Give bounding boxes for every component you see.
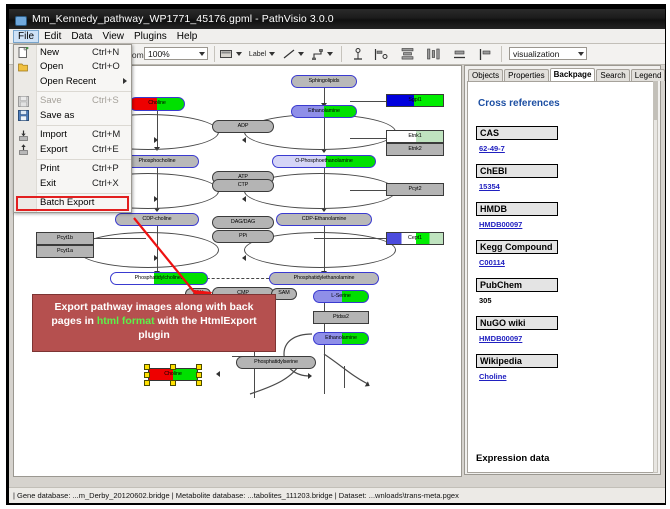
- interaction-icon: [312, 49, 324, 60]
- xref-source-chebi: ChEBI: [476, 164, 558, 178]
- node-label: Phosphocholine: [139, 159, 176, 164]
- tab-properties[interactable]: Properties: [504, 69, 548, 81]
- edge-to-ptdserine: [344, 366, 345, 388]
- menu-item-label: Export: [40, 144, 67, 155]
- line-icon: [283, 49, 295, 59]
- menu-file[interactable]: File: [13, 30, 39, 43]
- xref-source-wikipedia: Wikipedia: [476, 354, 558, 368]
- gene-label: Pcyt1b: [57, 236, 73, 241]
- status-text: | Gene database: ...m_Derby_20120602.bri…: [9, 491, 459, 500]
- xref-value-nugo[interactable]: HMDB00097: [479, 334, 522, 343]
- distribute-vertical-button[interactable]: [397, 47, 417, 61]
- chevron-down-icon: [199, 52, 205, 56]
- node-label: Ethanolamine: [325, 336, 357, 341]
- menu-separator: [36, 193, 131, 194]
- edge-sgpl1: [350, 101, 386, 102]
- node-label: Choline: [164, 372, 182, 377]
- open-folder-icon: [18, 62, 29, 73]
- export-icon: [18, 144, 29, 155]
- submenu-arrow-icon: [123, 78, 127, 84]
- file-menu-dropdown[interactable]: New Ctrl+N Open Ctrl+O Open Recent Save …: [13, 44, 132, 213]
- menu-item-label: New: [40, 47, 59, 58]
- menu-item-label: Print: [40, 163, 60, 174]
- menu-plugins[interactable]: Plugins: [129, 30, 172, 43]
- node-label: SAM: [278, 291, 289, 296]
- menu-item-new[interactable]: New Ctrl+N: [14, 45, 131, 60]
- gene-cept1[interactable]: Cept1: [386, 232, 444, 245]
- gene-sgpl1[interactable]: Sgpl1: [386, 94, 444, 107]
- gene-label: Cept1: [408, 236, 422, 241]
- xref-source-cas: CAS: [476, 126, 558, 140]
- panel-scrollbar[interactable]: [653, 81, 658, 473]
- xref-value-pubchem: 305: [479, 296, 492, 305]
- gene-pcyt2[interactable]: Pcyt2: [386, 183, 444, 196]
- node-label: ADP: [238, 124, 249, 129]
- visualization-value: visualization: [513, 49, 559, 59]
- edge-etnk: [350, 138, 386, 139]
- node-l-serine[interactable]: L-Serine: [313, 290, 369, 303]
- handle-sw[interactable]: [144, 380, 150, 386]
- callout-highlight: html format: [97, 315, 155, 327]
- pathvisio-window: Mm_Kennedy_pathway_WP1771_45176.gpml - P…: [8, 8, 666, 504]
- node-cdp-ethanolamine[interactable]: CDP-Ethanolamine: [276, 213, 372, 226]
- menu-item-accel: Ctrl+P: [92, 163, 119, 174]
- menu-bar: File Edit Data View Plugins Help: [9, 29, 665, 44]
- align-left-button[interactable]: [371, 47, 391, 61]
- xref-source-pubchem: PubChem: [476, 278, 558, 292]
- menu-item-accel: Ctrl+N: [92, 47, 119, 58]
- annotation-callout: Export pathway images along with back pa…: [32, 294, 276, 352]
- menu-separator: [36, 125, 131, 126]
- node-ethanolamine-top[interactable]: Ethanolamine: [291, 105, 357, 118]
- xref-source-kegg: Kegg Compound: [476, 240, 558, 254]
- edge-pcyt2: [350, 190, 386, 191]
- menu-help[interactable]: Help: [172, 30, 203, 43]
- gene-ptdss2[interactable]: Ptdss2: [313, 311, 369, 324]
- handle-w[interactable]: [144, 372, 150, 378]
- menu-item-accel: Ctrl+M: [92, 129, 120, 140]
- handle-s[interactable]: [170, 380, 176, 386]
- stack-left-icon: [479, 49, 492, 60]
- stack-left-button[interactable]: [475, 47, 495, 61]
- node-label: CTP: [238, 183, 248, 188]
- menu-item-label: Save as: [40, 110, 74, 121]
- node-phosphatidylserine[interactable]: Phosphatidylserine: [236, 356, 316, 369]
- xref-value-kegg[interactable]: C00114: [479, 258, 505, 267]
- node-label: Ethanolamine: [308, 109, 340, 114]
- save-disk-icon: [18, 96, 29, 107]
- backpage-content: Cross references CAS 62-49-7 ChEBI 15354…: [467, 81, 655, 473]
- node-label: O-Phosphoethanolamine: [295, 159, 353, 164]
- window-title: Mm_Kennedy_pathway_WP1771_45176.gpml - P…: [32, 13, 334, 25]
- scrollbar-thumb[interactable]: [654, 82, 657, 120]
- menu-edit[interactable]: Edit: [39, 30, 66, 43]
- callout-text-part2: with the HtmlExport plugin: [138, 315, 256, 341]
- node-label: Phosphatidylserine: [254, 360, 298, 365]
- stack-center-button[interactable]: [449, 47, 469, 61]
- align-center-icon: [352, 48, 364, 60]
- menu-item-export[interactable]: Export Ctrl+E: [14, 142, 131, 157]
- menu-item-open[interactable]: Open Ctrl+O: [14, 60, 131, 75]
- gene-label: Pcyt1a: [57, 249, 73, 254]
- xref-value-chebi[interactable]: 15354: [479, 182, 500, 191]
- tab-legend[interactable]: Legend: [631, 69, 666, 81]
- gene-etnk2[interactable]: Etnk2: [386, 143, 444, 156]
- menu-item-label: Open: [40, 61, 63, 72]
- label-tool-button[interactable]: Label: [247, 47, 277, 61]
- node-choline[interactable]: Choline: [129, 97, 185, 111]
- menu-item-label: Save: [40, 95, 62, 106]
- menu-item-label: Batch Export: [40, 197, 94, 208]
- node-label: Choline: [148, 101, 166, 106]
- arrowhead-left-icon: [216, 371, 220, 377]
- arrowhead-left-icon: [242, 137, 246, 143]
- line-tool-button[interactable]: [281, 47, 305, 61]
- handle-se[interactable]: [196, 380, 202, 386]
- gene-label: Etnk2: [408, 147, 421, 152]
- menu-item-save: Save Ctrl+S: [14, 94, 131, 109]
- menu-item-exit[interactable]: Exit Ctrl+X: [14, 176, 131, 191]
- menu-item-print[interactable]: Print Ctrl+P: [14, 162, 131, 177]
- node-label: Sphingolipids: [309, 79, 340, 84]
- stack-center-icon: [453, 49, 466, 60]
- xref-source-nugo: NuGO wiki: [476, 316, 558, 330]
- align-center-button[interactable]: [349, 47, 367, 61]
- handle-nw[interactable]: [144, 364, 150, 370]
- arrowhead-left-icon: [242, 196, 246, 202]
- node-label: Phosphatidylethanolamine: [294, 276, 355, 281]
- menu-view[interactable]: View: [97, 30, 129, 43]
- visualization-combo[interactable]: visualization: [509, 47, 587, 60]
- datanode-tool-button[interactable]: [219, 47, 243, 61]
- xref-source-hmdb: HMDB: [476, 202, 558, 216]
- menu-data[interactable]: Data: [66, 30, 97, 43]
- node-label: L-Serine: [331, 294, 351, 299]
- menu-item-label: Open Recent: [40, 76, 96, 87]
- node-ctp[interactable]: CTP: [212, 179, 274, 192]
- gene-etnk1[interactable]: Etnk1: [386, 130, 444, 143]
- menu-item-save-as[interactable]: Save as: [14, 108, 131, 123]
- tab-objects[interactable]: Objects: [468, 69, 503, 81]
- menu-item-accel: Ctrl+O: [92, 61, 120, 72]
- node-o-phosphoethanolamine[interactable]: O-Phosphoethanolamine: [272, 155, 376, 168]
- application-icon: [14, 13, 27, 26]
- distribute-vertical-icon: [401, 48, 414, 60]
- arrowhead-right-icon: [154, 196, 158, 202]
- gene-pcyt1a[interactable]: Pcyt1a: [36, 245, 94, 258]
- status-bar: | Gene database: ...m_Derby_20120602.bri…: [9, 487, 665, 503]
- menu-item-label: Import: [40, 129, 67, 140]
- xref-value-hmdb[interactable]: HMDB00097: [479, 220, 522, 229]
- zoom-combo[interactable]: 100%: [144, 47, 208, 60]
- arrowhead-left-icon: [242, 255, 246, 261]
- menu-separator: [36, 159, 131, 160]
- save-as-disk-icon: [18, 110, 29, 121]
- handle-ne[interactable]: [196, 364, 202, 370]
- node-ethanolamine-bottom[interactable]: Ethanolamine: [313, 332, 369, 345]
- title-bar: Mm_Kennedy_pathway_WP1771_45176.gpml - P…: [9, 9, 665, 29]
- xref-value-wikipedia[interactable]: Choline: [479, 372, 507, 381]
- label-tool-text: Label: [249, 51, 266, 58]
- distribute-horizontal-icon: [427, 48, 440, 60]
- new-document-icon: [18, 47, 29, 58]
- arrowhead-right-icon: [154, 137, 158, 143]
- cross-references-title: Cross references: [478, 98, 560, 109]
- chevron-down-icon: [578, 52, 584, 56]
- gene-label: Sgpl1: [408, 98, 421, 103]
- node-adp[interactable]: ADP: [212, 120, 274, 133]
- menu-item-label: Exit: [40, 178, 56, 189]
- panel-tab-strip: Objects Properties Backpage Search Legen…: [465, 66, 660, 81]
- menu-item-import[interactable]: Import Ctrl+M: [14, 128, 131, 143]
- screenshot-frame: Mm_Kennedy_pathway_WP1771_45176.gpml - P…: [0, 0, 670, 509]
- side-panel: Objects Properties Backpage Search Legen…: [464, 65, 661, 475]
- distribute-horizontal-button[interactable]: [423, 47, 443, 61]
- node-label: CDP-Ethanolamine: [302, 217, 347, 222]
- menu-item-open-recent[interactable]: Open Recent: [14, 74, 131, 89]
- tab-search[interactable]: Search: [596, 69, 629, 81]
- handle-e[interactable]: [196, 372, 202, 378]
- tab-backpage[interactable]: Backpage: [550, 68, 596, 81]
- datanode-icon: [220, 49, 233, 59]
- gene-pcyt1b[interactable]: Pcyt1b: [36, 232, 94, 245]
- menu-item-accel: Ctrl+X: [92, 178, 119, 189]
- menu-item-batch-export[interactable]: Batch Export: [14, 196, 131, 211]
- menu-item-accel: Ctrl+S: [92, 95, 119, 106]
- gene-label: Pcyt2: [409, 187, 422, 192]
- node-sphingolipids[interactable]: Sphingolipids: [291, 75, 357, 88]
- expression-data-title: Expression data: [476, 453, 549, 464]
- gene-label: Etnk1: [408, 134, 421, 139]
- zoom-value: 100%: [148, 49, 170, 59]
- node-phosphatidylethanolamine[interactable]: Phosphatidylethanolamine: [269, 272, 379, 285]
- gene-label: Ptdss2: [333, 315, 349, 320]
- align-left-icon: [374, 49, 388, 60]
- xref-value-cas[interactable]: 62-49-7: [479, 144, 505, 153]
- interaction-tool-button[interactable]: [309, 47, 335, 61]
- handle-n[interactable]: [170, 364, 176, 370]
- menu-item-accel: Ctrl+E: [92, 144, 119, 155]
- menu-separator: [36, 91, 131, 92]
- edge-cept1: [314, 238, 386, 239]
- import-icon: [18, 130, 29, 141]
